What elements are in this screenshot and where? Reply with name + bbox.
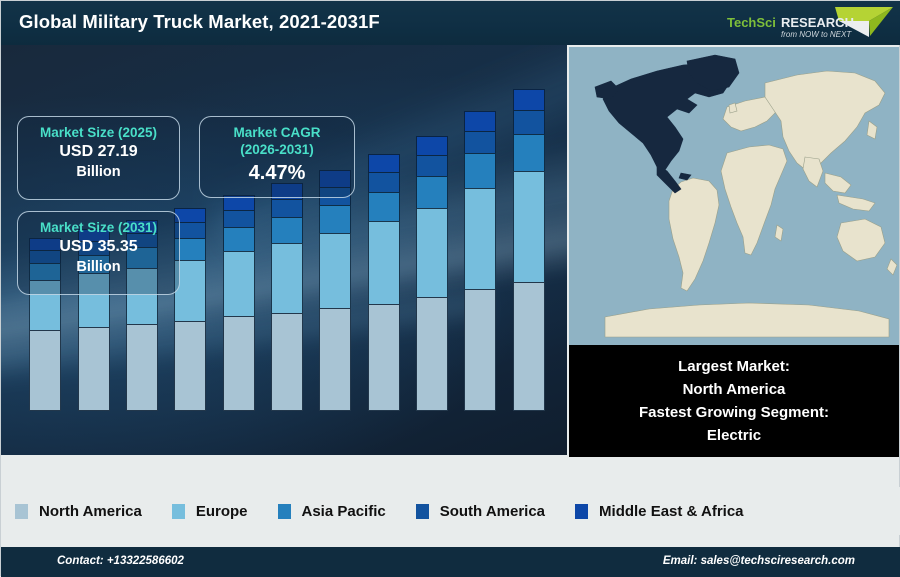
bar-segment [513, 171, 545, 282]
bar-segment [319, 205, 351, 233]
bar-segment [513, 89, 545, 110]
header-bar: Global Military Truck Market, 2021-2031F… [1, 1, 900, 45]
bar-segment [78, 327, 110, 411]
legend-swatch-icon [278, 504, 291, 519]
bar-segment [368, 154, 400, 172]
legend-item[interactable]: North America [15, 503, 142, 520]
kpi-market-size-2031: Market Size (2031) USD 35.35 Billion [17, 211, 180, 295]
bar-2030F [464, 111, 496, 412]
bar-segment [513, 282, 545, 411]
svg-text:RESEARCH: RESEARCH [781, 15, 854, 30]
chart-legend: North AmericaEuropeAsia PacificSouth Ame… [1, 487, 900, 535]
bar-segment [271, 243, 303, 313]
legend-item[interactable]: South America [416, 503, 545, 520]
techsci-research-logo: TechSci RESEARCH from NOW to NEXT [719, 4, 895, 44]
bar-segment [464, 153, 496, 188]
bar-segment [464, 289, 496, 411]
bar-segment [319, 233, 351, 308]
bar-segment [29, 330, 61, 411]
bar-segment [416, 297, 448, 411]
kpi-label: Market CAGR [200, 124, 354, 141]
bar-segment [416, 176, 448, 208]
legend-label: North America [39, 503, 142, 520]
bar-segment [271, 217, 303, 243]
bar-segment [416, 155, 448, 176]
footer-email: Email: sales@techsciresearch.com [663, 555, 855, 567]
svg-text:from NOW to NEXT: from NOW to NEXT [781, 30, 852, 39]
legend-label: Europe [196, 503, 248, 520]
bar-2027F [319, 170, 351, 411]
bar-segment [464, 131, 496, 153]
legend-item[interactable]: Asia Pacific [278, 503, 386, 520]
largest-market-label: Largest Market: [678, 355, 790, 378]
legend-swatch-icon [416, 504, 429, 519]
bar-2029F [416, 136, 448, 411]
legend-label: South America [440, 503, 545, 520]
legend-swatch-icon [15, 504, 28, 519]
bar-segment [223, 251, 255, 316]
bar-2031F [513, 89, 545, 411]
kpi-label: Market Size (2031) [18, 219, 179, 236]
legend-swatch-icon [172, 504, 185, 519]
legend-item[interactable]: Middle East & Africa [575, 503, 743, 520]
bar-segment [464, 188, 496, 289]
legend-label: Asia Pacific [302, 503, 386, 520]
legend-item[interactable]: Europe [172, 503, 248, 520]
kpi-value: 4.47% [200, 158, 354, 187]
bar-segment [513, 110, 545, 133]
bar-segment [174, 321, 206, 411]
footer-contact: Contact: +13322586602 [57, 555, 184, 567]
bar-segment [223, 210, 255, 227]
highlights-box: Largest Market: North America Fastest Gr… [569, 345, 899, 457]
kpi-market-cagr: Market CAGR (2026-2031) 4.47% [199, 116, 355, 198]
page-title: Global Military Truck Market, 2021-2031F [19, 11, 380, 33]
bar-segment [368, 192, 400, 222]
fastest-segment-value: Electric [707, 424, 761, 447]
kpi-value: USD 35.35 [18, 236, 179, 257]
infographic-root: Global Military Truck Market, 2021-2031F… [0, 0, 900, 576]
kpi-period: (2026-2031) [200, 141, 354, 158]
bar-2026E [271, 183, 303, 411]
bar-segment [271, 199, 303, 217]
bar-segment [464, 111, 496, 132]
chart-panel: 202120222023202420252026E2027F2028F2029F… [1, 45, 567, 455]
world-map [569, 47, 899, 345]
bar-segment [223, 227, 255, 251]
kpi-label: Market Size (2025) [18, 124, 179, 141]
bar-segment [513, 134, 545, 172]
bar-segment [368, 221, 400, 303]
bar-segment [368, 172, 400, 192]
kpi-value: USD 27.19 [18, 141, 179, 162]
bar-segment [416, 136, 448, 155]
fastest-segment-label: Fastest Growing Segment: [639, 401, 829, 424]
legend-swatch-icon [575, 504, 588, 519]
bar-segment [368, 304, 400, 411]
bar-segment [223, 316, 255, 411]
footer-bar: Contact: +13322586602 Email: sales@techs… [1, 547, 900, 577]
bar-segment [126, 324, 158, 411]
bar-2028F [368, 154, 400, 411]
bar-segment [416, 208, 448, 297]
bar-2025 [223, 195, 255, 411]
largest-market-value: North America [683, 378, 786, 401]
bar-segment [271, 313, 303, 411]
svg-text:TechSci: TechSci [727, 15, 776, 30]
kpi-unit: Billion [18, 257, 179, 277]
bar-segment [319, 308, 351, 411]
kpi-market-size-2025: Market Size (2025) USD 27.19 Billion [17, 116, 180, 200]
legend-label: Middle East & Africa [599, 503, 743, 520]
kpi-unit: Billion [18, 162, 179, 182]
